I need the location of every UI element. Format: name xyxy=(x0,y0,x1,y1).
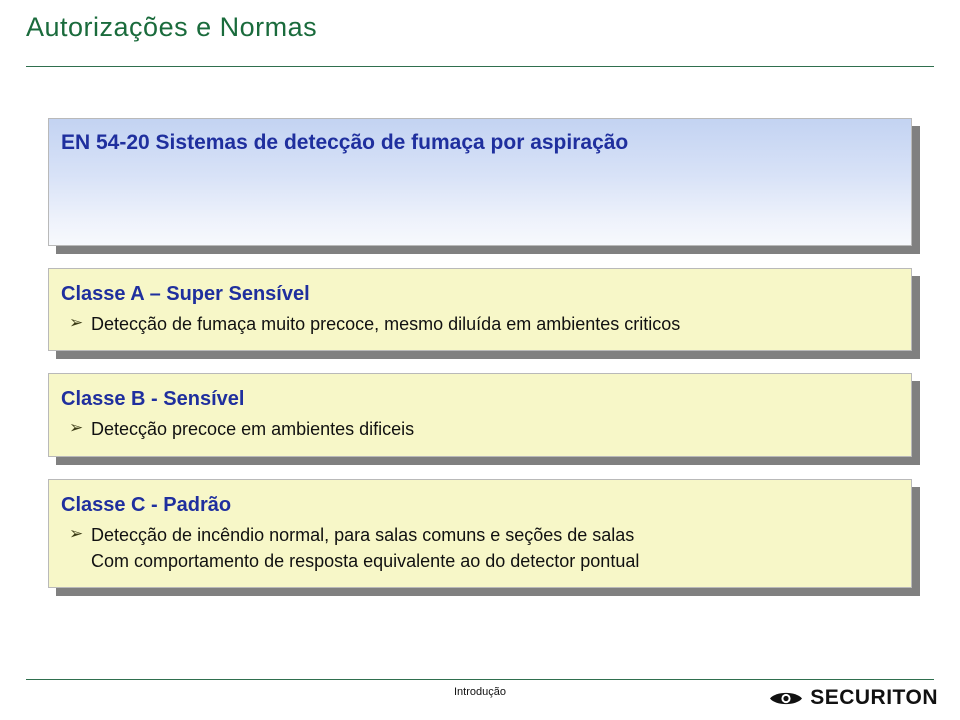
footer-divider xyxy=(26,679,934,680)
class-a-bullet-text: Detecção de fumaça muito precoce, mesmo … xyxy=(91,312,680,336)
class-a-block: Classe A – Super Sensível ➢ Detecção de … xyxy=(48,268,912,351)
class-c-heading: Classe C - Padrão xyxy=(61,494,899,517)
arrow-bullet-icon: ➢ xyxy=(61,417,91,440)
class-b-heading: Classe B - Sensível xyxy=(61,388,899,411)
class-b-block: Classe B - Sensível ➢ Detecção precoce e… xyxy=(48,373,912,456)
class-c-bullet-text-2: Com comportamento de resposta equivalent… xyxy=(61,549,899,573)
class-b-wrapper: Classe B - Sensível ➢ Detecção precoce e… xyxy=(48,373,912,456)
class-a-heading: Classe A – Super Sensível xyxy=(61,283,899,306)
class-c-block: Classe C - Padrão ➢ Detecção de incêndio… xyxy=(48,479,912,589)
header-block-wrapper: EN 54-20 Sistemas de detecção de fumaça … xyxy=(48,118,912,246)
arrow-bullet-icon: ➢ xyxy=(61,523,91,546)
eye-icon xyxy=(769,690,803,707)
brand-logo: SECURITON xyxy=(769,686,938,710)
class-c-wrapper: Classe C - Padrão ➢ Detecção de incêndio… xyxy=(48,479,912,589)
norm-header-text: EN 54-20 Sistemas de detecção de fumaça … xyxy=(61,131,911,155)
page-title: Autorizações e Normas xyxy=(26,12,317,43)
class-c-bullet-text: Detecção de incêndio normal, para salas … xyxy=(91,523,634,547)
arrow-bullet-icon: ➢ xyxy=(61,312,91,335)
content-area: EN 54-20 Sistemas de detecção de fumaça … xyxy=(48,118,912,588)
class-a-bullet-row: ➢ Detecção de fumaça muito precoce, mesm… xyxy=(61,312,899,336)
brand-name: SECURITON xyxy=(810,686,938,710)
class-b-bullet-row: ➢ Detecção precoce em ambientes dificeis xyxy=(61,417,899,441)
title-divider xyxy=(26,66,934,67)
class-b-bullet-text: Detecção precoce em ambientes dificeis xyxy=(91,417,414,441)
norm-header-block: EN 54-20 Sistemas de detecção de fumaça … xyxy=(48,118,912,246)
class-c-bullet-row: ➢ Detecção de incêndio normal, para sala… xyxy=(61,523,899,547)
class-a-wrapper: Classe A – Super Sensível ➢ Detecção de … xyxy=(48,268,912,351)
